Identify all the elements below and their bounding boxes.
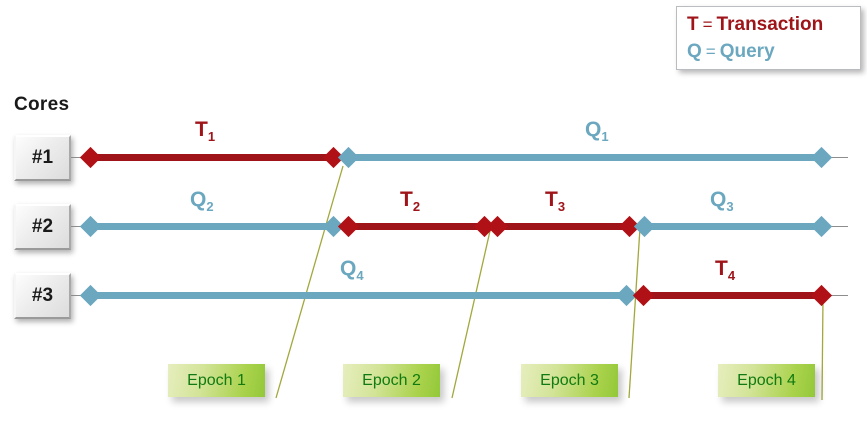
segment-core2-Q2[interactable] [90, 223, 335, 230]
label-core2-Q3-sub: 3 [726, 199, 733, 214]
epoch-box-3[interactable]: Epoch 3 [521, 364, 618, 397]
legend-query-value: Query [720, 41, 775, 62]
legend-query-key: Q [687, 41, 702, 62]
epoch-label-2: Epoch 2 [362, 372, 421, 390]
epoch-connector-4 [822, 297, 823, 400]
label-core1-T1: T1 [195, 118, 215, 144]
marker-core1-Q1-start[interactable] [338, 147, 359, 168]
marker-core2-T2-start[interactable] [338, 216, 359, 237]
legend-transaction-key: T [687, 14, 699, 35]
legend-item-transaction: T=Transaction [687, 12, 860, 39]
epoch-label-4: Epoch 4 [737, 372, 796, 390]
label-core3-T4-sub: 4 [728, 268, 735, 283]
label-core3-Q4-name: Q [340, 257, 356, 280]
label-core2-Q2-name: Q [190, 188, 206, 211]
core-label-1: #1 [32, 147, 53, 169]
label-core3-T4-name: T [715, 257, 728, 280]
epoch-label-3: Epoch 3 [540, 372, 599, 390]
epoch-connector-3 [629, 228, 640, 398]
marker-core1-Q1-end[interactable] [811, 147, 832, 168]
cores-axis-title: Cores [14, 94, 69, 116]
label-core2-Q2: Q2 [190, 188, 214, 214]
segment-core3-T4[interactable] [640, 292, 822, 299]
legend-transaction-equals: = [699, 15, 717, 34]
marker-core3-T4-end[interactable] [811, 285, 832, 306]
legend-box: T=Transaction Q=Query [676, 6, 861, 70]
segment-core1-Q1[interactable] [345, 154, 822, 161]
label-core2-T3: T3 [545, 188, 565, 214]
label-core2-T2-sub: 2 [413, 199, 420, 214]
marker-core2-Q3-start[interactable] [634, 216, 655, 237]
marker-core1-start[interactable] [80, 147, 101, 168]
core-box-2[interactable]: #2 [14, 204, 71, 250]
marker-core2-Q3-end[interactable] [811, 216, 832, 237]
label-core2-Q3-name: Q [710, 188, 726, 211]
diagram-canvas: T=Transaction Q=Query Cores #1 #2 #3 T1 … [0, 0, 867, 431]
marker-core3-start[interactable] [80, 285, 101, 306]
marker-core2-start[interactable] [80, 216, 101, 237]
label-core2-Q3: Q3 [710, 188, 734, 214]
core-label-3: #3 [32, 285, 53, 307]
segment-core3-Q4[interactable] [90, 292, 625, 299]
legend-query-equals: = [702, 42, 720, 61]
epoch-box-4[interactable]: Epoch 4 [718, 364, 815, 397]
label-core2-T3-name: T [545, 188, 558, 211]
epoch-box-2[interactable]: Epoch 2 [343, 364, 440, 397]
epoch-connector-2 [452, 231, 490, 398]
label-core1-Q1-sub: 1 [601, 129, 608, 144]
label-core1-T1-name: T [195, 118, 208, 141]
label-core3-Q4-sub: 4 [356, 268, 363, 283]
segment-core2-T3[interactable] [492, 223, 632, 230]
label-core2-T3-sub: 3 [558, 199, 565, 214]
epoch-label-1: Epoch 1 [187, 372, 246, 390]
label-core1-T1-sub: 1 [208, 129, 215, 144]
label-core3-Q4: Q4 [340, 257, 364, 283]
label-core2-T2-name: T [400, 188, 413, 211]
label-core1-Q1: Q1 [585, 118, 609, 144]
marker-core3-T4-start[interactable] [633, 285, 654, 306]
legend-transaction-value: Transaction [717, 14, 824, 35]
core-box-1[interactable]: #1 [14, 135, 71, 181]
core-label-2: #2 [32, 216, 53, 238]
core-box-3[interactable]: #3 [14, 273, 71, 319]
marker-core2-T3-start[interactable] [487, 216, 508, 237]
segment-core1-T1[interactable] [90, 154, 335, 161]
label-core3-T4: T4 [715, 257, 735, 283]
epoch-box-1[interactable]: Epoch 1 [168, 364, 265, 397]
label-core2-T2: T2 [400, 188, 420, 214]
segment-core2-T2[interactable] [345, 223, 490, 230]
segment-core2-Q3[interactable] [640, 223, 822, 230]
label-core1-Q1-name: Q [585, 118, 601, 141]
epoch-connector-1 [276, 166, 343, 398]
legend-item-query: Q=Query [687, 39, 860, 66]
label-core2-Q2-sub: 2 [206, 199, 213, 214]
